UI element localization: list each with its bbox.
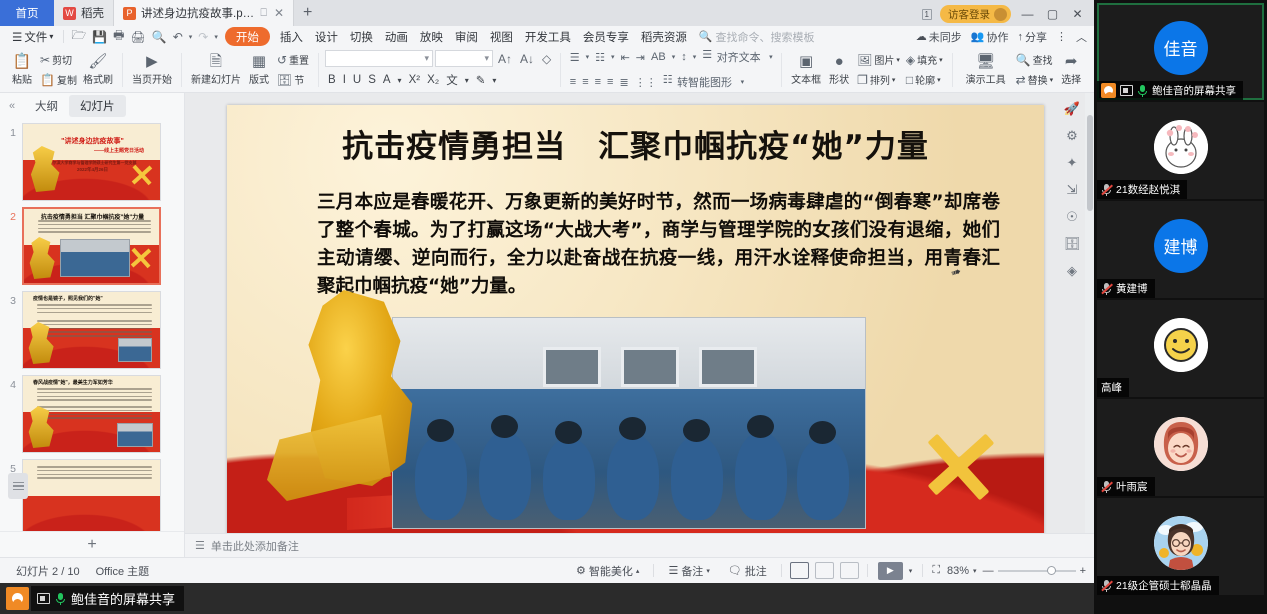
divider	[122, 53, 123, 87]
numbering-button[interactable]: ☷	[593, 50, 608, 65]
select-button[interactable]: ➦ 选择	[1056, 49, 1086, 91]
participant-namebar: 叶雨宸	[1097, 477, 1155, 496]
undo-icon[interactable]: ↶	[170, 30, 186, 44]
new-tab-label: +	[303, 4, 312, 22]
italic-button[interactable]: I	[340, 73, 349, 87]
present-tools-label: 演示工具	[966, 71, 1006, 86]
increase-indent-button[interactable]: ⇥	[633, 50, 647, 65]
ribbon-tab-docer-label: 稻壳资源	[641, 29, 687, 45]
zoom-in-button[interactable]: +	[1080, 565, 1086, 577]
picture-label: 图片	[874, 52, 894, 67]
photo-window	[543, 347, 601, 387]
search-icon: 🔍	[699, 30, 713, 43]
ribbon-group-clipboard: 📋 粘贴 ✂ 剪切 📋 复制 🖌 格式刷	[3, 48, 120, 92]
layout-icon: ▦	[252, 54, 266, 70]
ribbon-tab-insert-label: 插入	[280, 29, 303, 45]
redo-icon[interactable]: ↷	[195, 30, 211, 44]
section-label: 节	[294, 72, 304, 87]
participant-namebar: 高峰	[1097, 378, 1129, 397]
copy-button[interactable]: 📋 复制	[37, 71, 80, 88]
beautify-label: 智能美化	[589, 563, 633, 579]
search-placeholder: 查找命令、搜索模板	[716, 29, 815, 45]
copy-icon: 📋	[40, 73, 55, 87]
window-controls: 1 访客登录 — ▢ ✕	[922, 5, 1094, 26]
present-tools-button[interactable]: 🖥 演示工具	[959, 49, 1013, 91]
wps-presentation-window: 首页 W 稻壳 P 讲述身边抗疫故事.pptx ⎕ ✕ + 1 访客登录	[0, 0, 1094, 583]
cut-label: 剪切	[52, 52, 72, 67]
ribbon-tab-insert[interactable]: 插入	[274, 26, 309, 47]
participant-name: 黄建博	[1116, 281, 1148, 296]
participant-name: 高峰	[1101, 380, 1122, 395]
new-slide-label: 新建幻灯片	[191, 71, 241, 86]
outline-icon: □	[906, 73, 913, 87]
outline-label: 轮廓	[915, 72, 935, 87]
ribbon-tab-start-label: 开始	[236, 32, 259, 44]
ribbon-tab-view[interactable]: 视图	[484, 26, 519, 47]
thumbnail-preview[interactable]: 春风战疫情"她"，最美生力军如芳华	[22, 375, 161, 453]
scrollbar-thumb[interactable]	[1087, 115, 1093, 211]
sync-status-label: 未同步	[929, 29, 962, 45]
divider	[653, 564, 654, 577]
shapes-icon: ●	[835, 54, 844, 70]
reading-view-icon[interactable]	[840, 562, 859, 579]
guest-login-button[interactable]: 访客登录	[940, 5, 1011, 23]
ribbon-tab-review[interactable]: 审阅	[449, 26, 484, 47]
find-label: 查找	[1033, 52, 1053, 67]
notes-button[interactable]: ☰ 备注 ▾	[660, 563, 717, 579]
slide-counter[interactable]: 幻灯片 2 / 10	[8, 563, 88, 579]
section-button[interactable]: 🗄 节	[274, 71, 312, 88]
tab-docer-label: 稻壳	[81, 5, 104, 21]
share-button[interactable]: ↑ 分享	[1018, 29, 1048, 45]
party-emblem-graphic	[129, 162, 155, 188]
thumb-text-lines	[37, 320, 152, 339]
new-slide-button[interactable]: 🗎 新建幻灯片	[188, 49, 244, 91]
paste-button[interactable]: 📋 粘贴	[7, 49, 37, 91]
tab-docer[interactable]: W 稻壳	[54, 0, 114, 26]
text-direction-button[interactable]: AB	[649, 50, 669, 64]
ribbon-tab-developer[interactable]: 开发工具	[519, 26, 577, 47]
side-tool-strip: 🚀 ⚙ ✦ ⇲ ☉ 🗄 ◈	[1060, 101, 1084, 279]
ribbon-group-slides: 🗎 新建幻灯片 ▦ 版式 ↺ 重置 🗄 节	[184, 48, 316, 92]
collapse-panel-button[interactable]: «	[0, 100, 24, 112]
panel-header: « 大纲 幻灯片	[0, 93, 184, 118]
party-emblem-graphic	[128, 245, 154, 271]
ribbon-tab-slideshow-label: 放映	[420, 29, 443, 45]
distribute-button[interactable]: ≣	[617, 75, 631, 90]
divider	[560, 53, 561, 87]
font-size-select[interactable]: ▾	[435, 50, 493, 67]
thumb-photo	[60, 239, 130, 277]
avatar: 建博	[1154, 219, 1208, 273]
collaborate-button[interactable]: 👥 协作	[971, 29, 1009, 45]
thumb-title: "讲述身边抗疫故事"	[29, 136, 156, 146]
mic-muted-icon	[1101, 480, 1112, 493]
thumbnail-list[interactable]: 1 "讲述身边抗疫故事" ——线上主题党日活动 哈尔滨大学商学与管理学院硕士研究…	[0, 118, 184, 531]
hamburger-icon: ☰	[12, 30, 22, 44]
share-status-chip[interactable]: 鲍佳音的屏幕共享	[31, 586, 184, 611]
ribbon-group-tools: 🖥 演示工具 🔍 查找 ⇄ 替换▾ ➦ 选择	[955, 48, 1091, 92]
notes-icon: ☰	[195, 539, 205, 552]
thumb-photo	[117, 423, 153, 447]
replace-label: 替换	[1028, 72, 1048, 87]
fill-button[interactable]: ◈ 填充▾	[903, 51, 946, 68]
chevron-down-icon: ▾	[49, 32, 53, 41]
mic-muted-icon	[1101, 282, 1112, 295]
thumb-text-lines	[37, 304, 152, 315]
ribbon-tab-design[interactable]: 设计	[309, 26, 344, 47]
minimize-button[interactable]: —	[1019, 7, 1036, 21]
reset-label: 重置	[289, 52, 309, 67]
avatar	[1154, 120, 1208, 174]
mic-muted-icon	[1101, 579, 1112, 592]
sync-status-button[interactable]: ☁ 未同步	[916, 29, 962, 45]
divider	[781, 564, 782, 577]
thumbnail-item-3[interactable]: 3 疫情也是镜子，照见我们的"她"	[0, 288, 184, 372]
align-center-button[interactable]: ≡	[580, 75, 591, 89]
add-slide-button[interactable]: +	[0, 531, 184, 557]
font-color-button[interactable]: A	[380, 73, 394, 87]
textbox-label: 文本框	[791, 71, 821, 86]
user-icon[interactable]	[6, 587, 29, 610]
share-label: 分享	[1025, 29, 1047, 45]
tab-slides[interactable]: 幻灯片	[69, 95, 126, 117]
reset-button[interactable]: ↺ 重置	[274, 51, 312, 68]
user-icon	[1101, 83, 1116, 98]
zoom-slider[interactable]: — +	[983, 565, 1086, 577]
zoom-track[interactable]	[998, 570, 1076, 572]
cut-button[interactable]: ✂ 剪切	[37, 51, 80, 68]
thumbnail-preview[interactable]: 疫情也是镜子，照见我们的"她"	[22, 291, 161, 369]
ribbon-tab-member[interactable]: 会员专享	[577, 26, 635, 47]
align-left-button[interactable]: ≡	[567, 75, 578, 89]
print-icon[interactable]: 🖨	[128, 30, 149, 44]
participant-tile-5[interactable]: 叶雨宸	[1097, 399, 1264, 496]
play-icon: ▶	[887, 565, 894, 576]
ribbon-tab-developer-label: 开发工具	[525, 29, 571, 45]
participant-name: 叶雨宸	[1116, 479, 1148, 494]
reset-window-icon[interactable]: ⇲	[1067, 182, 1078, 198]
ribbon-tab-transition[interactable]: 切换	[344, 26, 379, 47]
thumbnail-number: 3	[0, 291, 22, 307]
notes-placeholder: 单击此处添加备注	[211, 538, 299, 554]
comments-button[interactable]: 🗨 批注	[720, 563, 775, 579]
replace-icon: ⇄	[1016, 73, 1026, 87]
thumbnail-number: 4	[0, 375, 22, 391]
strikethrough-button[interactable]: S	[365, 73, 379, 87]
search-input[interactable]: 🔍 查找命令、搜索模板	[693, 29, 815, 45]
arrange-icon: ❐	[857, 73, 868, 87]
status-bar-right: ⚙ 智能美化 ▴ ☰ 备注 ▾ 🗨 批注	[568, 562, 1086, 580]
reset-icon: ↺	[277, 53, 287, 67]
collaborate-label: 协作	[987, 29, 1009, 45]
file-menu-button[interactable]: ☰ 文件 ▾	[6, 26, 59, 47]
thumbnail-number: 1	[0, 123, 22, 139]
layout-label: 版式	[249, 71, 269, 86]
replace-button[interactable]: ⇄ 替换▾	[1013, 71, 1057, 88]
ribbon-tab-view-label: 视图	[490, 29, 513, 45]
avatar	[1154, 417, 1208, 471]
paste-label: 粘贴	[12, 71, 32, 86]
thumbnail-item-4[interactable]: 4 春风战疫情"她"，最美生力军如芳华	[0, 372, 184, 456]
notes-pane[interactable]: ☰ 单击此处添加备注	[185, 533, 1094, 557]
arrange-button[interactable]: ❐ 排列▾	[854, 71, 903, 88]
picture-icon: 🖼	[857, 53, 872, 67]
paste-icon: 📋	[13, 54, 32, 70]
notes-icon: ☰	[668, 564, 678, 577]
divider	[781, 53, 782, 87]
font-name-select[interactable]: ▾	[325, 50, 433, 67]
zoom-dropdown-icon[interactable]: ▾	[973, 567, 977, 575]
align-text-button[interactable]: ☰对齐文本	[700, 47, 766, 67]
sliders-icon[interactable]: ⚙	[1066, 128, 1078, 144]
participant-namebar: 鲍佳音的屏幕共享	[1097, 81, 1243, 100]
thumbnail-number: 2	[0, 207, 22, 223]
comments-label: 批注	[745, 563, 767, 579]
notes-label: 备注	[681, 563, 703, 579]
thumb-text-lines	[37, 406, 152, 421]
collapse-ribbon-button[interactable]: ︿	[1076, 29, 1087, 45]
slide-body-textbox[interactable]: 三月本应是春暖花开、万象更新的美好时节，然而一场病毒肆虐的“倒春寒”却席卷了整个…	[317, 189, 1000, 301]
participant-name: 21级企管硕士郗晶晶	[1116, 578, 1212, 593]
textbox-button[interactable]: ▣ 文本框	[788, 49, 824, 91]
guest-login-label: 访客登录	[948, 7, 990, 22]
window-tab-bar: 首页 W 稻壳 P 讲述身边抗疫故事.pptx ⎕ ✕ + 1 访客登录	[0, 0, 1094, 26]
ribbon-tab-docer[interactable]: 稻壳资源	[635, 26, 693, 47]
bold-button[interactable]: B	[325, 73, 339, 87]
picture-button[interactable]: 🖼 图片▾	[854, 51, 903, 68]
photo-window	[621, 347, 679, 387]
thumbnail-preview[interactable]: 抗击疫情勇担当 汇聚巾帼抗疫"她"力量	[22, 207, 161, 285]
ribbon-tab-slideshow[interactable]: 放映	[414, 26, 449, 47]
bunny-avatar-icon	[1154, 120, 1208, 174]
open-icon[interactable]: 🗁	[68, 26, 89, 47]
thumb-text-lines	[38, 220, 151, 235]
avatar	[12, 593, 23, 604]
slide-sorter-icon[interactable]	[815, 562, 834, 579]
thumbnail-item-1[interactable]: 1 "讲述身边抗疫故事" ——线上主题党日活动 哈尔滨大学商学与管理学院硕士研究…	[0, 120, 184, 204]
play-circle-icon: ▶	[146, 54, 158, 70]
slide-thumbnail-panel: « 大纲 幻灯片 1 "讲述身边抗疫故事" ——线上主题党日活动 哈尔滨大学商学…	[0, 93, 185, 557]
maximize-button[interactable]: ▢	[1044, 7, 1061, 21]
tab-document-label: 讲述身边抗疫故事.pptx	[141, 5, 255, 21]
avatar-initials: 佳音	[1164, 35, 1198, 60]
divider	[318, 53, 319, 87]
fill-label: 填充	[917, 52, 937, 67]
zoom-knob[interactable]	[1047, 566, 1056, 575]
status-bar: 幻灯片 2 / 10 Office 主题 ⚙ 智能美化 ▴ ☰ 备注 ▾ 🗨 批…	[0, 557, 1094, 583]
participant-namebar: 黄建博	[1097, 279, 1155, 298]
divider	[952, 53, 953, 87]
ribbon-tab-design-label: 设计	[315, 29, 338, 45]
thumb-title: 疫情也是镜子，照见我们的"她"	[33, 295, 156, 302]
avatar-initials: 建博	[1164, 233, 1198, 258]
screen-share-bar: 鲍佳音的屏幕共享	[0, 583, 1094, 614]
smiley-avatar-icon	[1154, 318, 1208, 372]
window-count-badge[interactable]: 1	[922, 9, 932, 20]
tab-close-icon[interactable]: ✕	[274, 6, 284, 20]
avatar	[994, 8, 1007, 21]
ribbon-tab-member-label: 会员专享	[583, 29, 629, 45]
share-status-label: 鲍佳音的屏幕共享	[71, 589, 175, 608]
copy-label: 复制	[57, 72, 77, 87]
cloud-icon: ☁	[916, 30, 927, 43]
outline-button[interactable]: □ 轮廓▾	[903, 71, 946, 88]
text-highlight-button[interactable]: ✎	[473, 72, 489, 88]
shapes-button[interactable]: ● 形状	[824, 49, 854, 91]
slide-title-textbox[interactable]: 抗击疫情勇担当 汇聚巾帼抗疫“她”力量	[227, 121, 1044, 166]
girl-glasses-avatar-icon	[1154, 516, 1208, 570]
magic-wand-icon[interactable]: ✦	[1067, 155, 1078, 171]
decrease-indent-button[interactable]: ⇤	[618, 50, 632, 65]
phonetic-dropdown-icon[interactable]: ▾	[462, 75, 472, 86]
participant-tile-3[interactable]: 建博 黄建博	[1097, 201, 1264, 298]
tab-document[interactable]: P 讲述身边抗疫故事.pptx ⎕ ✕	[114, 0, 294, 26]
participant-tile-4[interactable]: 高峰	[1097, 300, 1264, 397]
add-slide-label: +	[87, 536, 96, 554]
find-icon[interactable]: 🔍	[149, 30, 170, 44]
ribbon-tab-animation[interactable]: 动画	[379, 26, 414, 47]
thumb-text-lines	[37, 466, 152, 481]
grow-font-icon[interactable]: A↑	[495, 52, 515, 66]
file-menu-label: 文件	[24, 29, 47, 45]
screen-share-icon	[37, 593, 50, 604]
undo-dropdown-icon[interactable]: ▾	[186, 33, 196, 41]
theme-name[interactable]: Office 主题	[88, 563, 158, 579]
clear-format-icon[interactable]: ◇	[539, 52, 554, 66]
menu-bar: ☰ 文件 ▾ 🗁 💾 🖶 🖨 🔍 ↶ ▾ ↷ ▾ 开始 插入 设计 切换 动画 …	[0, 26, 1094, 47]
participant-name: 鲍佳音的屏幕共享	[1152, 83, 1236, 98]
globe-icon[interactable]: ◈	[1067, 263, 1077, 279]
phonetic-guide-button[interactable]: 文	[443, 71, 461, 89]
format-painter-button[interactable]: 🖌 格式刷	[80, 49, 116, 91]
tab-monitor-icon[interactable]: ⎕	[260, 7, 267, 20]
screen-share-icon	[1120, 85, 1133, 96]
fill-icon: ◈	[906, 53, 915, 67]
comment-icon: 🗨	[728, 564, 742, 577]
ribbon-group-slideshow: ▶ 当页开始	[125, 48, 179, 92]
print-preview-icon[interactable]: 🖶	[110, 26, 127, 47]
ribbon-toolbar: 📋 粘贴 ✂ 剪切 📋 复制 🖌 格式刷	[0, 47, 1094, 93]
convert-to-smartart-button[interactable]: ☷转智能图形	[660, 72, 737, 92]
start-slideshow-button[interactable]: ▶	[878, 562, 903, 580]
zoom-level-label[interactable]: 83%	[945, 565, 971, 577]
thumb-photo	[118, 338, 152, 362]
ribbon-group-font: ▾ ▾ A↑ A↓ ◇ B I U S A	[321, 48, 558, 92]
tab-home-label: 首页	[16, 5, 39, 21]
ribbon-group-paragraph: ☰▾ ☷▾ ⇤ ⇥ AB▾ ↕▾ ☰对齐文本▾ ≡ ≡ ≡ ≡ ≣	[563, 48, 779, 92]
start-from-current-button[interactable]: ▶ 当页开始	[129, 49, 175, 91]
brush-icon: 🖌	[88, 54, 107, 70]
pptx-file-icon: P	[123, 7, 136, 20]
more-options-button[interactable]: ⋮	[1056, 30, 1067, 43]
participant-tile-6[interactable]: 21级企管硕士郗晶晶	[1097, 498, 1264, 595]
layout-button[interactable]: ▦ 版式	[244, 49, 274, 91]
divider	[867, 564, 868, 577]
ribbon-tab-animation-label: 动画	[385, 29, 408, 45]
participant-namebar: 21数经赵悦淇	[1097, 180, 1187, 199]
new-tab-button[interactable]: +	[294, 0, 321, 26]
ribbon-group-drawing: ▣ 文本框 ● 形状 🖼 图片▾ ❐ 排列▾	[784, 48, 950, 92]
underline-button[interactable]: U	[350, 73, 364, 87]
close-button[interactable]: ✕	[1069, 7, 1086, 21]
select-arrow-icon: ➦	[1065, 54, 1078, 70]
photo-people-group	[393, 389, 865, 528]
people-icon: 👥	[971, 30, 985, 43]
ribbon-tab-start[interactable]: 开始	[225, 27, 270, 46]
ribbon-tab-review-label: 审阅	[455, 29, 478, 45]
ribbon-tab-transition-label: 切换	[350, 29, 373, 45]
search-icon: 🔍	[1016, 53, 1031, 67]
rocket-icon[interactable]: 🚀	[1064, 101, 1080, 117]
slideshow-dropdown-icon[interactable]: ▾	[905, 567, 917, 575]
thumbnail-preview[interactable]: "讲述身边抗疫故事" ——线上主题党日活动 哈尔滨大学商学与管理学院硕士研究生第…	[22, 123, 161, 201]
editor-body: « 大纲 幻灯片 1 "讲述身边抗疫故事" ——线上主题党日活动 哈尔滨大学商学…	[0, 93, 1094, 557]
meeting-participant-panel: 佳音 鲍佳音的屏幕共享	[1094, 0, 1267, 614]
normal-view-icon[interactable]	[790, 562, 809, 579]
tab-home[interactable]: 首页	[0, 0, 54, 26]
thumbnail-preview[interactable]	[22, 459, 161, 531]
mic-on-icon[interactable]	[55, 592, 66, 605]
thumb-text-lines	[37, 388, 152, 403]
thumbnail-item-2[interactable]: 2 抗击疫情勇担当 汇聚巾帼抗疫"她"力量	[0, 204, 184, 288]
mic-muted-icon	[1101, 183, 1112, 196]
fit-slide-icon[interactable]: ⛶	[929, 564, 943, 577]
highlight-dropdown-icon[interactable]: ▾	[489, 75, 499, 86]
resource-icon[interactable]: 🗄	[1064, 236, 1081, 252]
save-icon[interactable]: 💾	[89, 30, 110, 44]
participant-tile-2[interactable]: 21数经赵悦淇	[1097, 102, 1264, 199]
vertical-scrollbar[interactable]	[1085, 93, 1094, 533]
new-slide-icon: 🗎	[210, 54, 222, 70]
help-icon[interactable]: ☉	[1066, 209, 1078, 225]
slide-canvas[interactable]: 抗击疫情勇担当 汇聚巾帼抗疫“她”力量 三月本应是春暖花开、万象更新的美好时节，…	[227, 105, 1044, 540]
justify-button[interactable]: ≡	[605, 75, 616, 89]
mic-on-icon	[1137, 84, 1148, 97]
divider	[181, 53, 182, 87]
beautify-icon: ⚙	[576, 564, 586, 577]
line-spacing-button[interactable]: ↕	[679, 50, 690, 64]
panel-resize-handle[interactable]	[8, 473, 28, 499]
photo-window	[699, 347, 757, 387]
slide-editing-area[interactable]: 抗击疫情勇担当 汇聚巾帼抗疫“她”力量 三月本应是春暖花开、万象更新的美好时节，…	[185, 93, 1094, 557]
superscript-button[interactable]: X²	[406, 73, 424, 87]
beautify-button[interactable]: ⚙ 智能美化 ▴	[568, 563, 647, 579]
avatar: 佳音	[1154, 21, 1208, 75]
avatar	[1154, 318, 1208, 372]
shapes-label: 形状	[829, 71, 849, 86]
bullets-button[interactable]: ☰	[567, 50, 582, 65]
subscript-button[interactable]: X₂	[424, 73, 442, 87]
shrink-font-icon[interactable]: A↓	[517, 52, 537, 66]
find-button[interactable]: 🔍 查找	[1013, 51, 1057, 68]
participant-tile-1[interactable]: 佳音 鲍佳音的屏幕共享	[1097, 3, 1264, 100]
divider	[922, 564, 923, 577]
zoom-out-button[interactable]: —	[983, 565, 994, 577]
participant-name: 21数经赵悦淇	[1116, 182, 1180, 197]
align-text-label: 对齐文本	[714, 48, 763, 66]
participant-namebar: 21级企管硕士郗晶晶	[1097, 576, 1219, 595]
font-color-dropdown-icon[interactable]: ▾	[395, 75, 405, 86]
slide-photo[interactable]	[392, 317, 866, 529]
align-right-button[interactable]: ≡	[592, 75, 603, 89]
arrange-label: 排列	[870, 72, 890, 87]
columns-button[interactable]: ⋮⋮	[632, 75, 659, 90]
customize-qat-icon[interactable]: ▾	[211, 33, 221, 41]
girl-avatar-icon	[1154, 417, 1208, 471]
docer-app-icon: W	[63, 7, 76, 20]
tab-outline[interactable]: 大纲	[24, 95, 69, 117]
